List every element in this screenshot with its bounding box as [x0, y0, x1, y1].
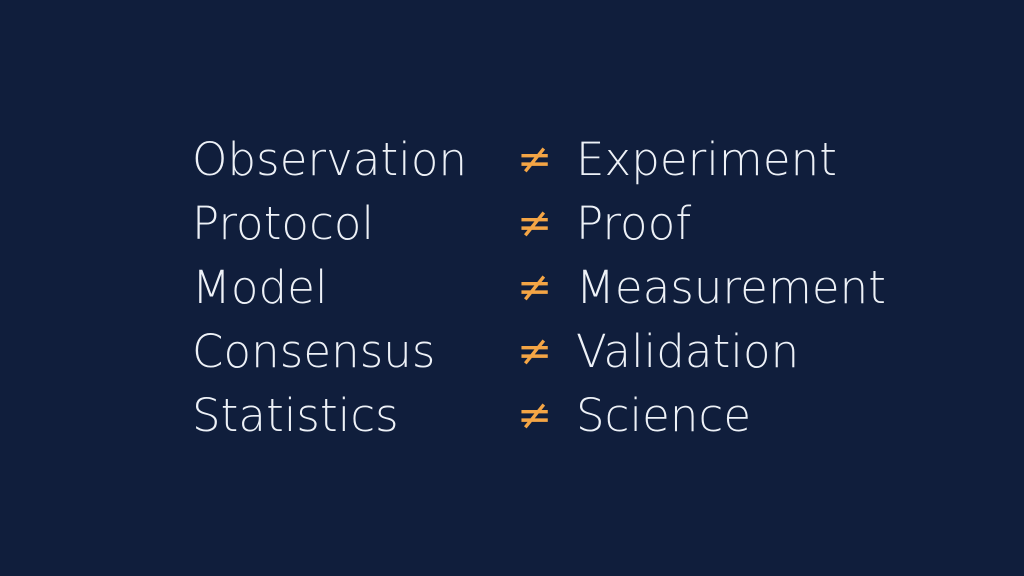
- inequality-pair-list: Observation ≠ Experiment Protocol ≠ Proo…: [192, 127, 892, 447]
- right-term-science: Science: [576, 393, 892, 438]
- left-term-model: Model: [192, 265, 517, 310]
- not-equal-icon: ≠: [517, 138, 576, 180]
- left-term-statistics: Statistics: [192, 393, 517, 438]
- pair-row-model-measurement: Model ≠ Measurement: [192, 255, 892, 319]
- not-equal-icon: ≠: [517, 266, 576, 308]
- not-equal-icon: ≠: [517, 202, 576, 244]
- slide-canvas: Observation ≠ Experiment Protocol ≠ Proo…: [0, 0, 1024, 576]
- left-term-protocol: Protocol: [192, 201, 517, 246]
- left-term-observation: Observation: [192, 137, 517, 182]
- pair-row-statistics-science: Statistics ≠ Science: [192, 383, 892, 447]
- pair-row-consensus-validation: Consensus ≠ Validation: [192, 319, 892, 383]
- pair-row-protocol-proof: Protocol ≠ Proof: [192, 191, 892, 255]
- left-term-consensus: Consensus: [192, 329, 517, 374]
- not-equal-icon: ≠: [517, 330, 576, 372]
- pair-row-observation-experiment: Observation ≠ Experiment: [192, 127, 892, 191]
- right-term-validation: Validation: [576, 329, 892, 374]
- right-term-measurement: Measurement: [576, 265, 892, 310]
- right-term-experiment: Experiment: [576, 137, 892, 182]
- not-equal-icon: ≠: [517, 394, 576, 436]
- right-term-proof: Proof: [576, 201, 892, 246]
